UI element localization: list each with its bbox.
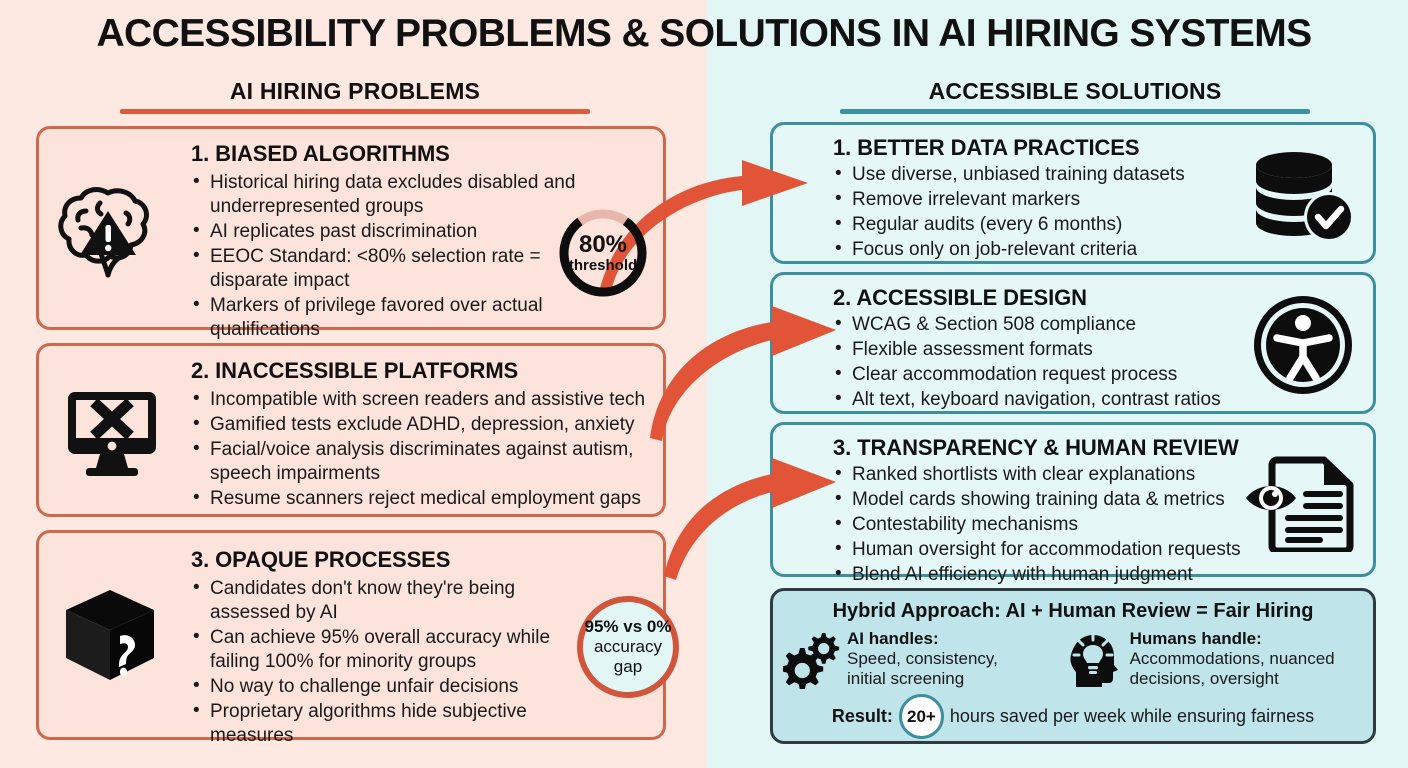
problem-card-3-title: 3. OPAQUE PROCESSES [191,547,450,573]
list-item: Flexible assessment formats [833,338,1253,362]
problems-header-rule [120,109,590,114]
hybrid-ai-line2: initial screening [847,669,998,689]
list-item: Contestability mechanisms [833,513,1253,537]
result-description: hours saved per week while ensuring fair… [950,706,1314,727]
infographic-root: ACCESSIBILITY PROBLEMS & SOLUTIONS IN AI… [0,0,1408,768]
accuracy-badge-line1: 95% vs 0% [585,617,672,637]
list-item: Markers of privilege favored over actual… [191,294,591,342]
list-item: Focus only on job-relevant criteria [833,238,1233,262]
result-label: Result: [832,706,893,727]
threshold-badge-text: 80% threshold [569,233,637,274]
head-lightbulb-icon [1066,631,1124,689]
list-item: Model cards showing training data & metr… [833,488,1253,512]
accuracy-badge-text: 95% vs 0% accuracy gap [585,617,672,677]
solution-card-2-body: WCAG & Section 508 compliance Flexible a… [833,313,1253,413]
solutions-header-rule [840,109,1310,114]
list-item: EEOC Standard: <80% selection rate = dis… [191,245,591,293]
problem-card-3-body: Candidates don't know they're being asse… [191,577,591,749]
monitor-x-icon [57,382,167,482]
problem-card-2-body: Incompatible with screen readers and ass… [191,388,656,512]
problems-header-text: AI HIRING PROBLEMS [120,78,590,105]
problem-card-3[interactable]: 3. OPAQUE PROCESSES Candidates don't kno… [36,530,666,740]
list-item: Historical hiring data excludes disabled… [191,171,591,219]
list-item: Regular audits (every 6 months) [833,213,1233,237]
list-item: Proprietary algorithms hide subjective m… [191,700,591,748]
solution-card-1[interactable]: 1. BETTER DATA PRACTICES Use diverse, un… [770,122,1376,264]
problems-column-header: AI HIRING PROBLEMS [120,78,590,114]
solutions-header-text: ACCESSIBLE SOLUTIONS [840,78,1310,105]
hybrid-ai-line1: Speed, consistency, [847,649,998,669]
list-item: Gamified tests exclude ADHD, depression,… [191,413,656,437]
threshold-badge: 80% threshold [557,207,649,299]
hybrid-humans-line2: decisions, oversight [1130,669,1335,689]
solution-card-3-body: Ranked shortlists with clear explanation… [833,463,1253,588]
result-hours-badge: 20+ [899,694,944,739]
problem-card-1-title: 1. BIASED ALGORITHMS [191,141,450,167]
list-item: Incompatible with screen readers and ass… [191,388,656,412]
list-item: Ranked shortlists with clear explanation… [833,463,1253,487]
solutions-column-header: ACCESSIBLE SOLUTIONS [840,78,1310,114]
list-item: Use diverse, unbiased training datasets [833,163,1233,187]
solution-card-3[interactable]: 3. TRANSPARENCY & HUMAN REVIEW Ranked sh… [770,422,1376,577]
list-item: No way to challenge unfair decisions [191,675,591,699]
accessibility-icon [1251,293,1355,397]
database-check-icon [1247,145,1359,245]
list-item: Human oversight for accommodation reques… [833,538,1253,562]
list-item: Facial/voice analysis discriminates agai… [191,438,656,486]
list-item: AI replicates past discrimination [191,220,591,244]
accuracy-badge-line2: accuracy [585,637,672,657]
black-box-question-icon [55,581,165,691]
list-item: Remove irrelevant markers [833,188,1233,212]
hybrid-humans-column: Humans handle: Accommodations, nuanced d… [1066,629,1363,689]
list-item: Resume scanners reject medical employmen… [191,487,656,511]
hybrid-humans-line1: Accommodations, nuanced [1130,649,1335,669]
solution-card-1-title: 1. BETTER DATA PRACTICES [833,135,1139,161]
threshold-badge-label: threshold [569,257,637,274]
problem-card-1-body: Historical hiring data excludes disabled… [191,171,591,343]
accuracy-gap-badge: 95% vs 0% accuracy gap [573,592,683,702]
hybrid-approach-panel[interactable]: Hybrid Approach: AI + Human Review = Fai… [770,588,1376,744]
hybrid-humans-text: Humans handle: Accommodations, nuanced d… [1130,629,1335,689]
list-item: WCAG & Section 508 compliance [833,313,1253,337]
threshold-badge-value: 80% [569,233,637,257]
solution-card-2-title: 2. ACCESSIBLE DESIGN [833,285,1087,311]
accuracy-badge-line3: gap [585,657,672,677]
solution-card-2[interactable]: 2. ACCESSIBLE DESIGN WCAG & Section 508 … [770,272,1376,414]
list-item: Candidates don't know they're being asse… [191,577,591,625]
list-item: Can achieve 95% overall accuracy while f… [191,626,591,674]
hybrid-result-row: Result: 20+ hours saved per week while e… [773,694,1373,739]
list-item: Blend AI efficiency with human judgment [833,563,1253,587]
problem-card-2[interactable]: 2. INACCESSIBLE PLATFORMS Incompatible w… [36,343,666,517]
problem-card-2-title: 2. INACCESSIBLE PLATFORMS [191,358,518,384]
brain-warning-icon [53,181,163,281]
list-item: Clear accommodation request process [833,363,1253,387]
eye-document-icon [1243,453,1361,553]
hybrid-ai-text: AI handles: Speed, consistency, initial … [847,629,998,689]
solution-card-3-title: 3. TRANSPARENCY & HUMAN REVIEW [833,435,1239,461]
hybrid-title: Hybrid Approach: AI + Human Review = Fai… [773,600,1373,623]
hybrid-ai-heading: AI handles: [847,629,998,649]
page-title: ACCESSIBILITY PROBLEMS & SOLUTIONS IN AI… [0,12,1408,56]
solution-card-1-body: Use diverse, unbiased training datasets … [833,163,1233,263]
hybrid-humans-heading: Humans handle: [1130,629,1335,649]
list-item: Alt text, keyboard navigation, contrast … [833,388,1253,412]
hybrid-ai-column: AI handles: Speed, consistency, initial … [783,629,1066,689]
hybrid-columns: AI handles: Speed, consistency, initial … [773,629,1373,689]
gears-icon [783,631,841,689]
